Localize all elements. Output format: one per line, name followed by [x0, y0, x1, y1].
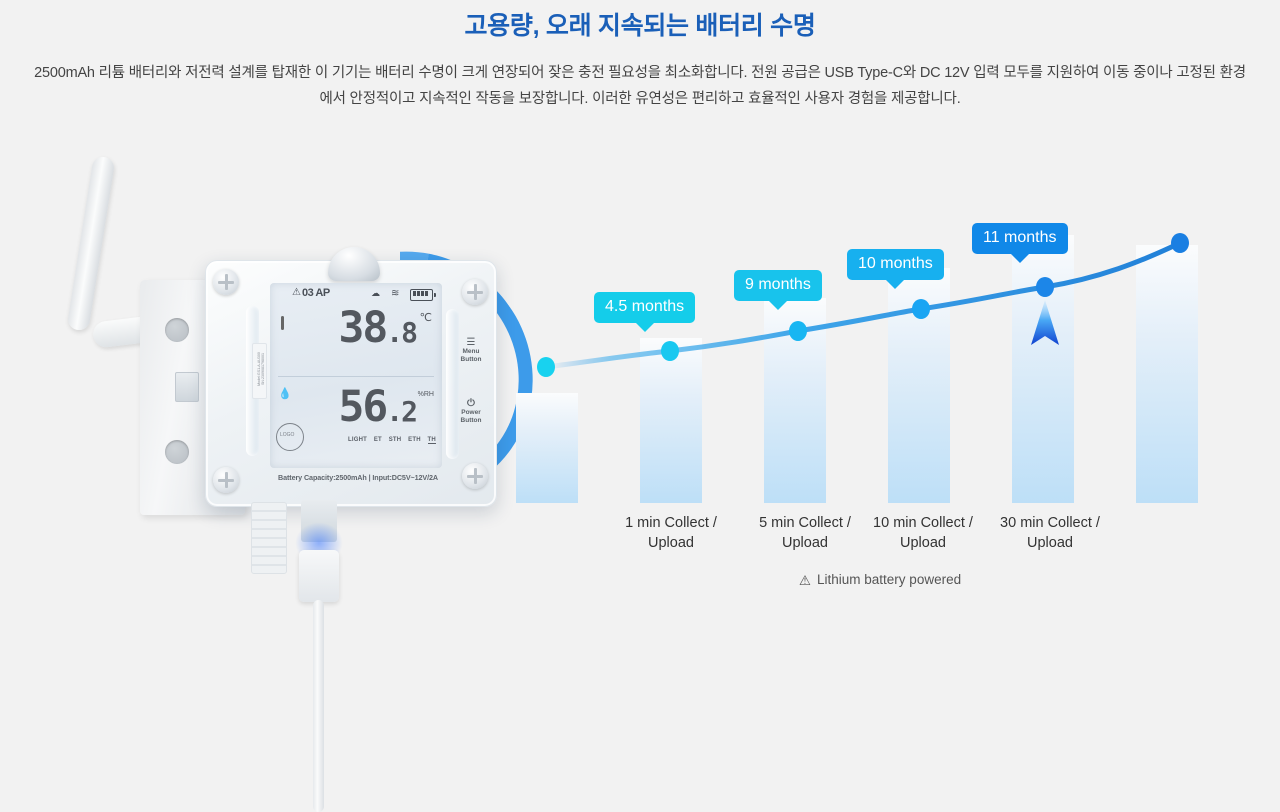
- segment-sth: STH: [389, 437, 402, 444]
- menu-button-label-2: Button: [461, 356, 482, 363]
- chart-point-label: 4.5 months: [594, 292, 695, 323]
- chart-x-label: 1 min Collect / Upload: [609, 513, 733, 553]
- screw: [213, 467, 239, 493]
- chart-footnote-text: Lithium battery powered: [817, 572, 961, 587]
- lcd-humidity-value: 56.2: [339, 386, 417, 429]
- segment-light: LIGHT: [348, 437, 367, 444]
- warning-triangle-icon: ⚠: [799, 573, 811, 589]
- bracket-hole: [165, 440, 189, 464]
- battery-full-icon: [410, 289, 433, 301]
- battery-life-trendline: [500, 150, 1260, 550]
- segment-th: TH: [428, 437, 436, 444]
- thermometer-icon: [281, 316, 284, 330]
- menu-button-label-1: Menu: [463, 348, 480, 355]
- chart-point-label: 9 months: [734, 270, 822, 301]
- lcd-divider: [278, 376, 434, 377]
- lcd-humidity-unit: %RH: [418, 391, 434, 398]
- segment-et: ET: [374, 437, 382, 444]
- humidity-drop-icon: 💧: [278, 387, 292, 400]
- sensor-device-body: Model:GS1-A-AU300 SN:2309081798001 ⚠ 03 …: [205, 260, 497, 507]
- lcd-temperature-value: 38.8: [339, 307, 417, 350]
- chart-footnote: ⚠Lithium battery powered: [500, 572, 1260, 589]
- logo-icon: [276, 423, 304, 451]
- lcd-temperature-unit: ℃: [420, 311, 432, 324]
- screw: [213, 269, 239, 295]
- usb-cable: [313, 600, 324, 812]
- chart-x-label: 30 min Collect / Upload: [988, 513, 1112, 553]
- sensor-probe: [251, 502, 287, 574]
- chart-x-label: 5 min Collect / Upload: [743, 513, 867, 553]
- usb-plug: [299, 550, 339, 602]
- lcd-ap-status: 03 AP: [302, 287, 330, 299]
- power-button-label-2: Button: [461, 417, 482, 424]
- chart-x-label: 10 min Collect / Upload: [861, 513, 985, 553]
- power-icon: ⏻: [454, 400, 488, 408]
- ethernet-port: [175, 372, 199, 402]
- wifi-icon: ≋: [391, 288, 399, 299]
- antenna: [66, 155, 115, 331]
- segment-eth: ETH: [408, 437, 421, 444]
- device-side-label-text: Model:GS1-A-AU300 SN:2309081798001: [257, 347, 265, 391]
- chart-point-label: 10 months: [847, 249, 944, 280]
- warning-triangle-icon: ⚠: [292, 287, 301, 298]
- enclosure-rib-right: [446, 309, 459, 459]
- power-button[interactable]: ⏻ Power Button: [454, 400, 488, 425]
- product-photo: Model:GS1-A-AU300 SN:2309081798001 ⚠ 03 …: [55, 150, 495, 662]
- menu-button[interactable]: ☰ Menu Button: [454, 339, 488, 364]
- battery-life-chart: 4.5 months 9 months 10 months 11 months …: [500, 150, 1260, 610]
- page-title: 고용량, 오래 지속되는 배터리 수명: [0, 6, 1280, 42]
- menu-hamburger-icon: ☰: [454, 339, 488, 347]
- lcd-screen: ⚠ 03 AP ☁ ≋ 38.8 ℃ 💧 56.2 %RH LIGHT ET S…: [270, 283, 442, 468]
- lcd-segment-labels: LIGHT ET STH ETH TH: [348, 437, 436, 444]
- bracket-hole: [165, 318, 189, 342]
- screw: [462, 463, 488, 489]
- device-side-label: Model:GS1-A-AU300 SN:2309081798001: [252, 343, 267, 399]
- cursor-arrow-icon: [1031, 300, 1059, 345]
- cloud-icon: ☁: [371, 288, 380, 299]
- screw: [462, 279, 488, 305]
- chart-point-label: 11 months: [972, 223, 1068, 254]
- page-description: 2500mAh 리튬 배터리와 저전력 설계를 탑재한 이 기기는 배터리 수명…: [30, 60, 1250, 112]
- battery-capacity-text: Battery Capacity:2500mAh | Input:DC5V~12…: [258, 473, 458, 482]
- page-root: 고용량, 오래 지속되는 배터리 수명 2500mAh 리튬 배터리와 저전력 …: [0, 0, 1280, 662]
- power-button-label-1: Power: [461, 409, 481, 416]
